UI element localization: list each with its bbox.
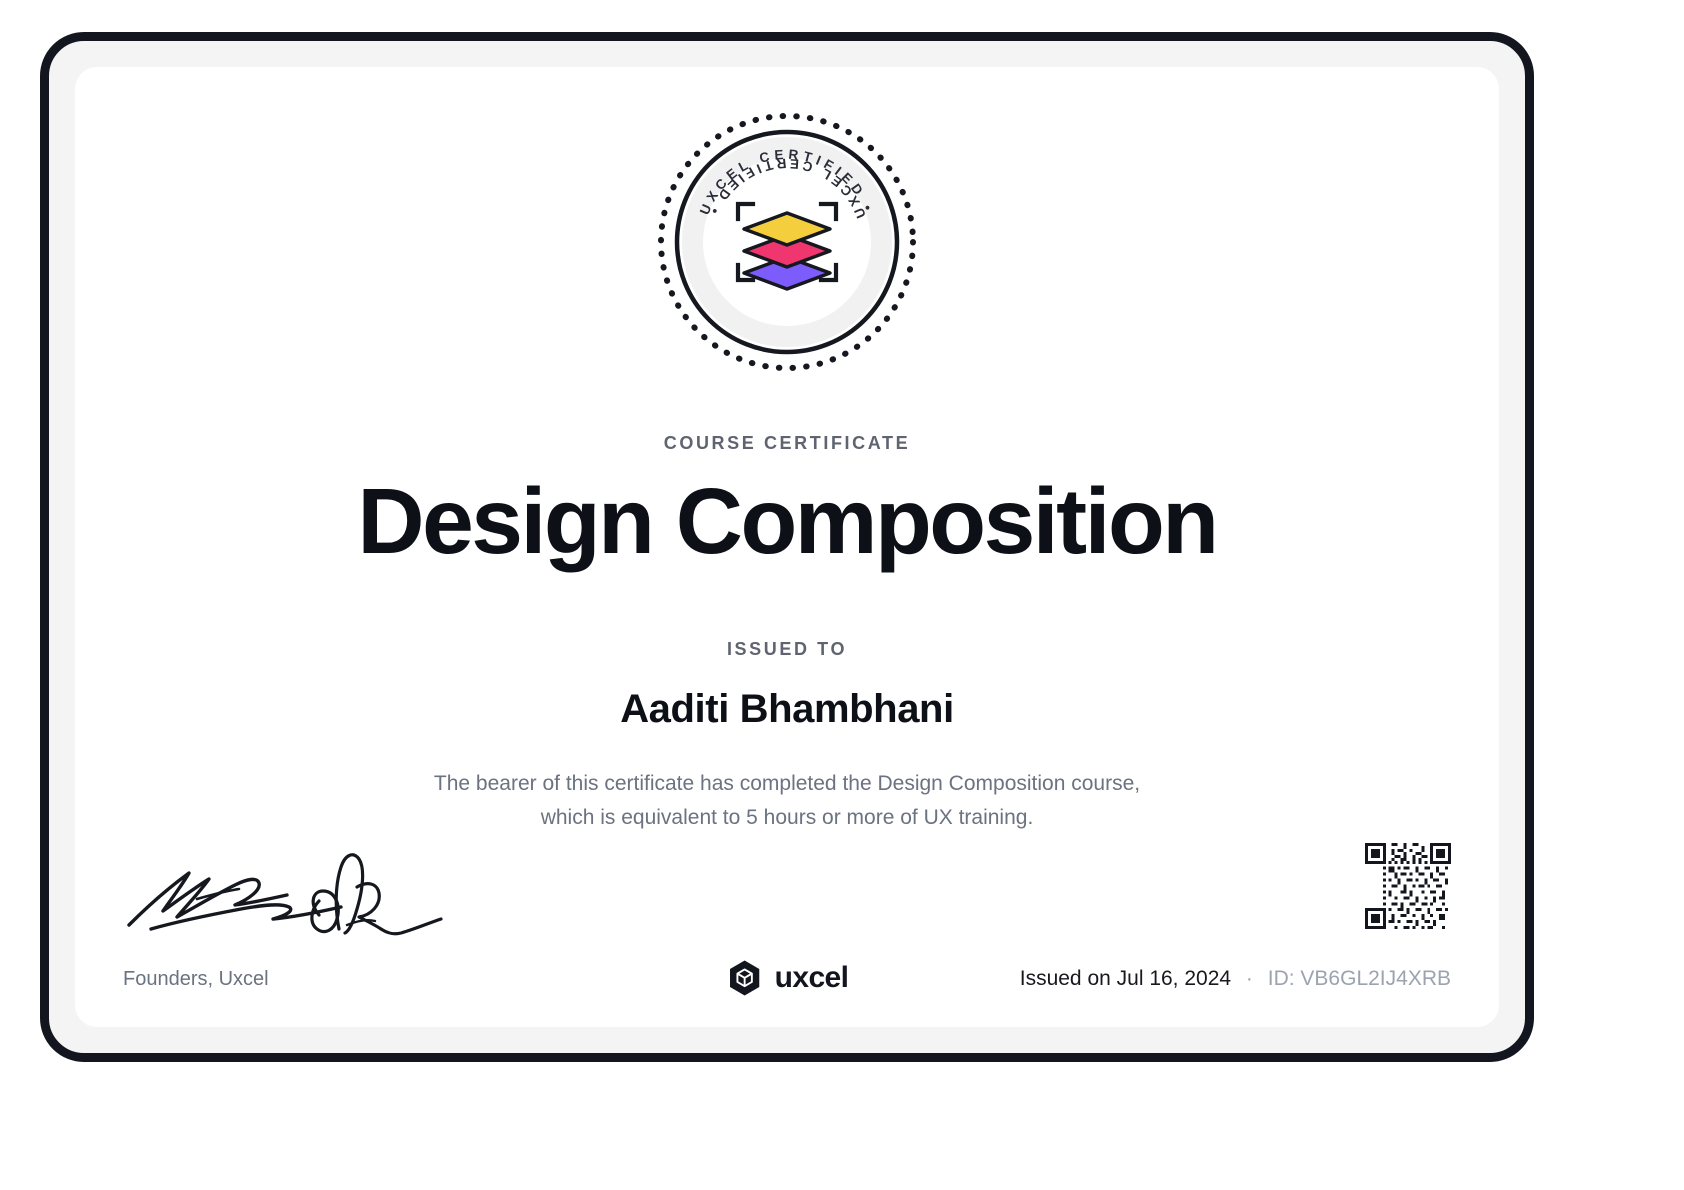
issued-to-label: ISSUED TO bbox=[75, 639, 1499, 660]
certificate-description: The bearer of this certificate has compl… bbox=[75, 767, 1499, 835]
issued-on-date: Issued on Jul 16, 2024 bbox=[1020, 967, 1231, 990]
issued-meta: Issued on Jul 16, 2024 · ID: VB6GL2IJ4XR… bbox=[1020, 967, 1451, 991]
recipient-name: Aaditi Bhambhani bbox=[75, 687, 1499, 732]
uxcel-hexagon-icon bbox=[726, 959, 764, 997]
page-title: Design Composition bbox=[75, 475, 1499, 568]
founders-signatures bbox=[123, 833, 443, 943]
certificate-page: UXCEL CERTIFIED • UXCEL CERTIFIED • bbox=[0, 0, 1684, 1190]
certificate-id: ID: VB6GL2IJ4XRB bbox=[1268, 967, 1451, 990]
signature-caption: Founders, Uxcel bbox=[123, 968, 269, 991]
verification-qr-code[interactable] bbox=[1365, 843, 1451, 929]
certificate-frame: UXCEL CERTIFIED • UXCEL CERTIFIED • bbox=[40, 32, 1534, 1062]
description-line-2: which is equivalent to 5 hours or more o… bbox=[75, 801, 1499, 835]
uxcel-wordmark: uxcel bbox=[775, 961, 849, 995]
certificate-paper: UXCEL CERTIFIED • UXCEL CERTIFIED • bbox=[75, 67, 1499, 1027]
course-certificate-kicker: COURSE CERTIFICATE bbox=[75, 433, 1499, 454]
meta-separator: · bbox=[1246, 967, 1253, 990]
description-line-1: The bearer of this certificate has compl… bbox=[75, 767, 1499, 801]
uxcel-certified-seal: UXCEL CERTIFIED • UXCEL CERTIFIED • bbox=[652, 107, 922, 377]
uxcel-brand-logo: uxcel bbox=[726, 959, 849, 997]
